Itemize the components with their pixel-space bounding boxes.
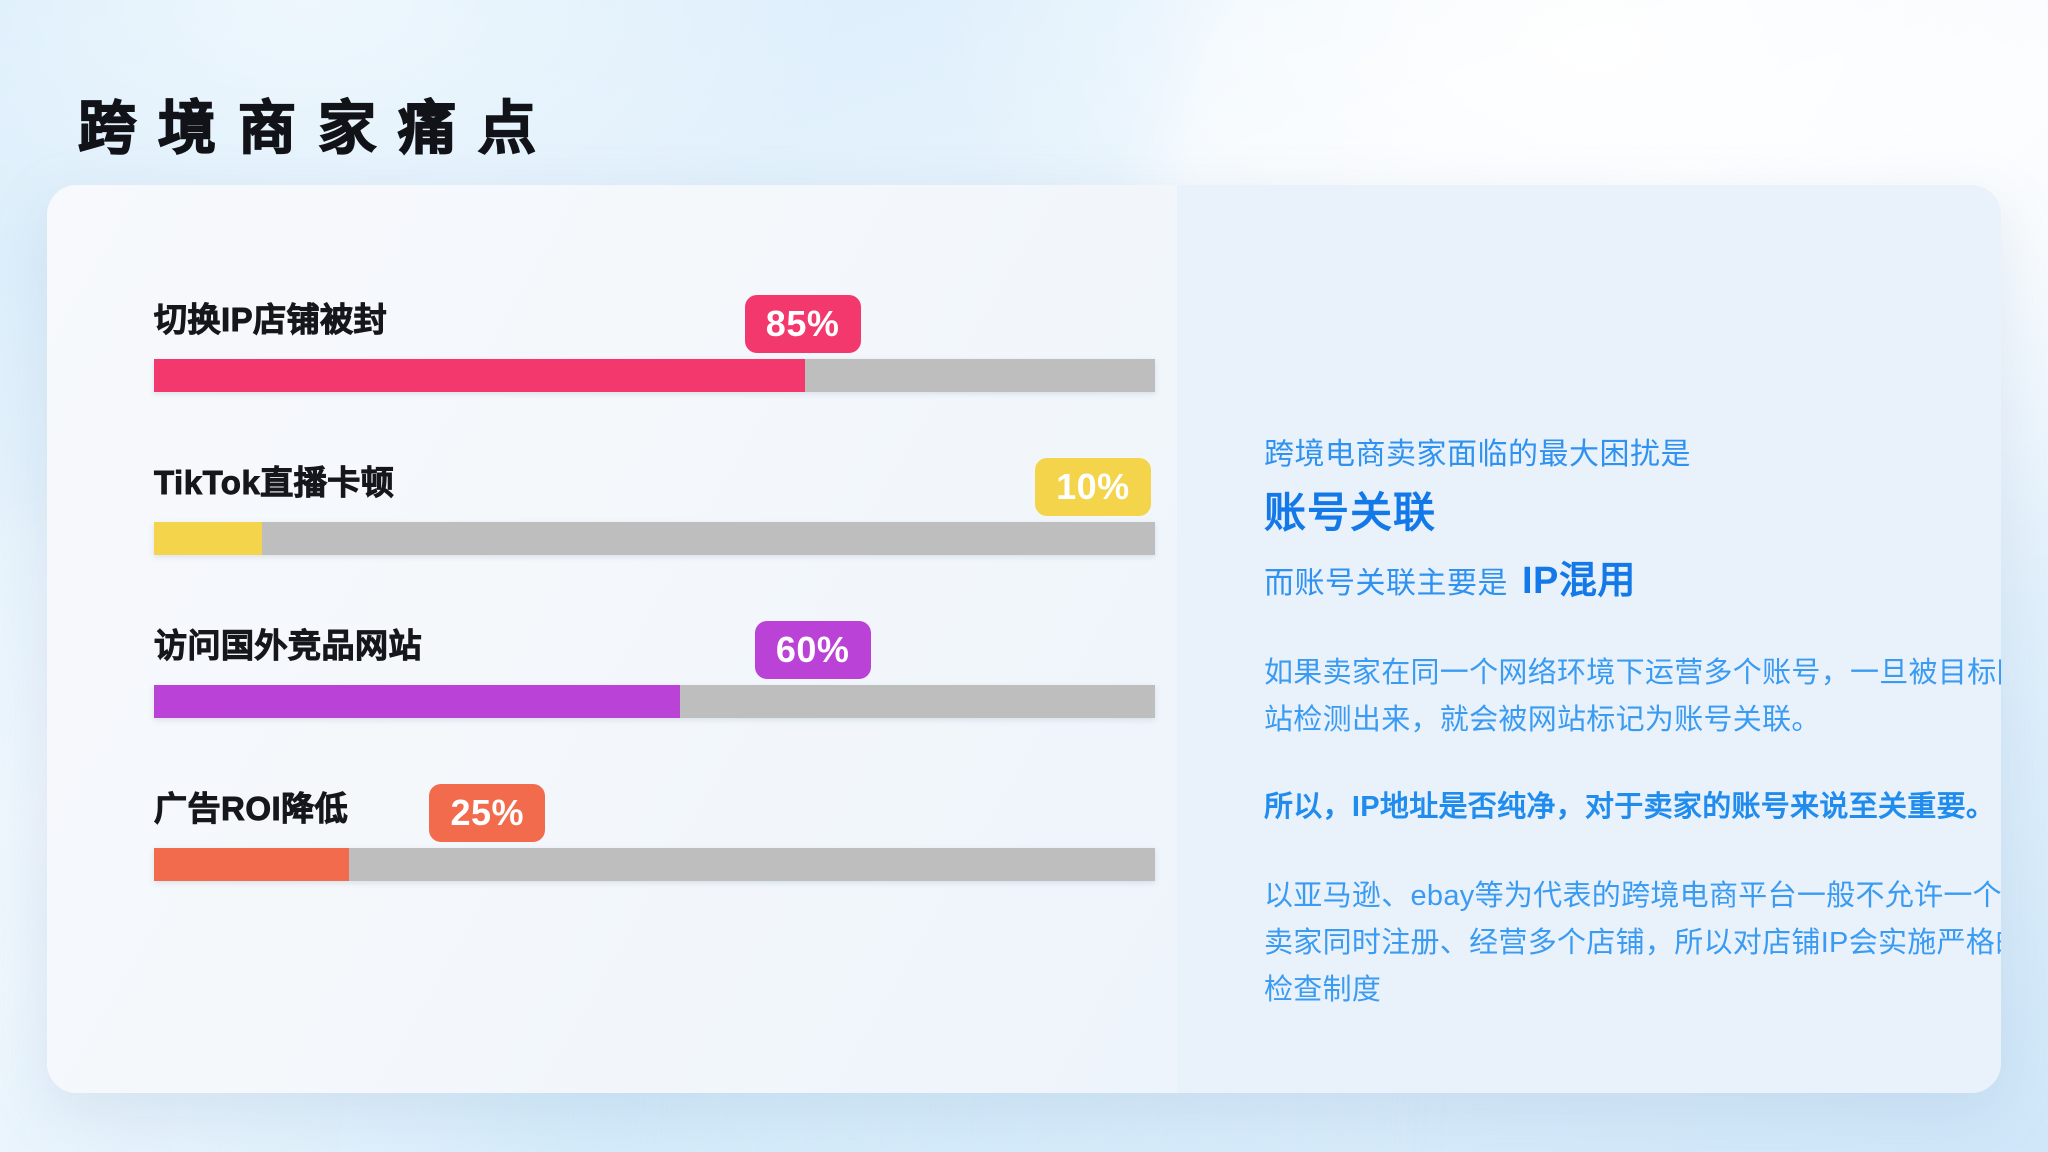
panel-paragraph-3: 以亚马逊、ebay等为代表的跨境电商平台一般不允许一个卖家同时注册、经营多个店铺… bbox=[1264, 873, 2001, 1014]
page-title: 跨境商家痛点 bbox=[78, 97, 558, 161]
panel-hero-text: 账号关联 bbox=[1264, 487, 2001, 540]
bar-value-badge: 25% bbox=[429, 784, 545, 842]
bar-header: 访问国外竞品网站 60% bbox=[154, 593, 1155, 685]
bar-header: 广告ROI降低 25% bbox=[154, 756, 1155, 848]
bar-track bbox=[154, 522, 1155, 555]
bar-track bbox=[154, 685, 1155, 718]
bar-track bbox=[154, 848, 1155, 881]
bar-value-badge: 85% bbox=[745, 295, 861, 353]
bar-header: TikTok直播卡顿 10% bbox=[154, 430, 1155, 522]
pain-point-bar-chart: 切换IP店铺被封 85% TikTok直播卡顿 10% 访问国外竞品网站 bbox=[154, 267, 1155, 919]
panel-subtitle-accent: IP混用 bbox=[1522, 555, 1636, 608]
bar-value-badge: 60% bbox=[755, 621, 871, 679]
bar-label: 广告ROI降低 bbox=[154, 782, 348, 830]
panel-lead-text: 跨境电商卖家面临的最大困扰是 bbox=[1264, 433, 2001, 477]
bar-row: TikTok直播卡顿 10% bbox=[154, 430, 1155, 593]
bar-label: TikTok直播卡顿 bbox=[154, 456, 394, 504]
panel-subtitle: 而账号关联主要是 IP混用 bbox=[1264, 555, 2001, 608]
bar-row: 访问国外竞品网站 60% bbox=[154, 593, 1155, 756]
bar-value-badge: 10% bbox=[1035, 458, 1151, 516]
bar-fill bbox=[154, 685, 680, 718]
bar-header: 切换IP店铺被封 85% bbox=[154, 267, 1155, 359]
bar-row: 广告ROI降低 25% bbox=[154, 756, 1155, 919]
bar-label: 访问国外竞品网站 bbox=[154, 619, 422, 667]
panel-paragraph-1: 如果卖家在同一个网络环境下运营多个账号，一旦被目标网站检测出来，就会被网站标记为… bbox=[1264, 650, 2001, 744]
bar-row: 切换IP店铺被封 85% bbox=[154, 267, 1155, 430]
slide-root: 跨境商家痛点 切换IP店铺被封 85% TikTok直播卡顿 10% bbox=[0, 0, 2048, 1152]
bar-label: 切换IP店铺被封 bbox=[154, 293, 387, 341]
bar-fill bbox=[154, 522, 262, 555]
bar-track bbox=[154, 359, 1155, 392]
content-card: 切换IP店铺被封 85% TikTok直播卡顿 10% 访问国外竞品网站 bbox=[47, 185, 2001, 1093]
panel-paragraph-2: 所以，IP地址是否纯净，对于卖家的账号来说至关重要。 bbox=[1264, 784, 2001, 831]
explanation-panel: 跨境电商卖家面临的最大困扰是 账号关联 而账号关联主要是 IP混用 如果卖家在同… bbox=[1264, 433, 2001, 1043]
panel-subtitle-prefix: 而账号关联主要是 bbox=[1264, 563, 1508, 605]
bar-fill bbox=[154, 359, 805, 392]
bar-fill bbox=[154, 848, 349, 881]
